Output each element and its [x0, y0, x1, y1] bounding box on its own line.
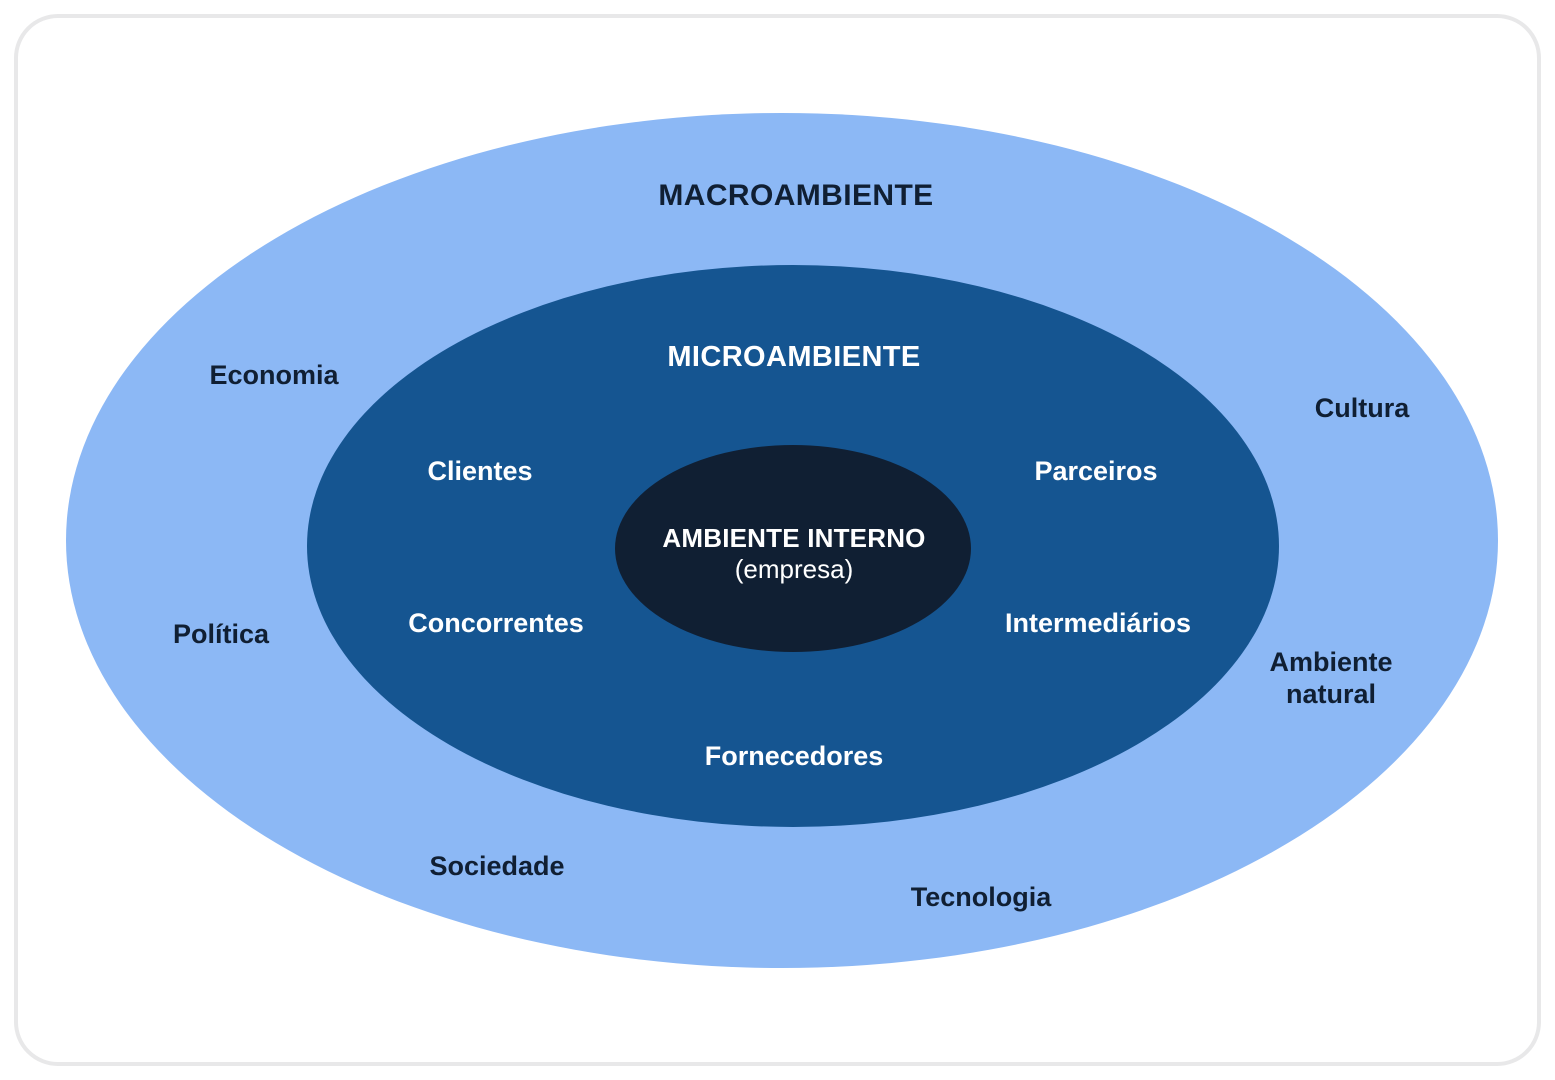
micro-label-parceiros: Parceiros [1034, 456, 1157, 488]
diagram-card: MACROAMBIENTE MICROAMBIENTE AMBIENTE INT… [14, 14, 1541, 1066]
marketing-environment-diagram: MACROAMBIENTE MICROAMBIENTE AMBIENTE INT… [18, 18, 1537, 1062]
micro-label-clientes: Clientes [427, 456, 532, 488]
macro-label-cultura: Cultura [1315, 393, 1410, 425]
macro-label-politica: Política [173, 619, 269, 651]
macro-label-ambiente-natural-line1: Ambiente [1269, 647, 1392, 677]
micro-label-concorrentes: Concorrentes [408, 608, 584, 640]
macro-label-sociedade: Sociedade [429, 851, 564, 883]
ambiente-interno-title: AMBIENTE INTERNO [584, 523, 1004, 554]
microambiente-title: MICROAMBIENTE [667, 340, 920, 374]
macroambiente-title: MACROAMBIENTE [658, 178, 933, 213]
micro-label-fornecedores: Fornecedores [705, 741, 884, 773]
ambiente-interno-title-block: AMBIENTE INTERNO (empresa) [584, 523, 1004, 584]
micro-label-intermediarios: Intermediários [1005, 608, 1191, 640]
macro-label-ambiente-natural-line2: natural [1286, 679, 1376, 709]
macro-label-tecnologia: Tecnologia [911, 882, 1052, 914]
macro-label-ambiente-natural: Ambiente natural [1231, 647, 1431, 711]
ambiente-interno-subtitle: (empresa) [584, 554, 1004, 585]
macro-label-economia: Economia [209, 360, 338, 392]
